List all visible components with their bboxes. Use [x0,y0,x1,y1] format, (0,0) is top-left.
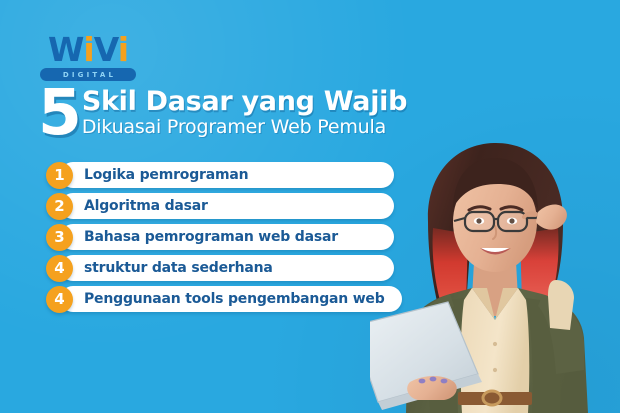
logo-wordmark: WiVi [40,33,136,66]
list-item[interactable]: 2Algoritma dasar [46,193,385,219]
poster-canvas: WiVi DIGITAL 5 Skil Dasar yang Wajib Dik… [0,0,620,413]
logo-accent-letter-2: i [118,30,128,69]
list-item[interactable]: 4struktur data sederhana [46,255,385,281]
list-item-number-badge: 2 [46,193,73,220]
list-item-number-badge: 4 [46,255,73,282]
list-item-number-badge: 3 [46,224,73,251]
list-item-label: Logika pemrograman [84,167,248,183]
brand-logo[interactable]: WiVi DIGITAL [40,33,136,81]
page-title: Skil Dasar yang Wajib [82,88,407,116]
list-item[interactable]: 4Penggunaan tools pengembangan web [46,286,385,312]
logo-accent-letter: i [83,30,93,69]
person-illustration [370,130,620,413]
list-item[interactable]: 3Bahasa pemrograman web dasar [46,224,385,250]
skill-list: 1Logika pemrograman2Algoritma dasar3Baha… [46,162,385,317]
list-item-label: Penggunaan tools pengembangan web [84,291,385,307]
list-item[interactable]: 1Logika pemrograman [46,162,385,188]
list-item-label: Bahasa pemrograman web dasar [84,229,338,245]
headline-number: 5 [38,84,80,142]
list-item-number-badge: 1 [46,162,73,189]
list-item-number-badge: 4 [46,286,73,313]
headline-text-group: Skil Dasar yang Wajib Dikuasai Programer… [82,84,407,138]
list-item-label: struktur data sederhana [84,260,273,276]
list-item-label: Algoritma dasar [84,198,208,214]
page-subtitle: Dikuasai Programer Web Pemula [82,117,407,138]
headline-block: 5 Skil Dasar yang Wajib Dikuasai Program… [38,84,407,142]
